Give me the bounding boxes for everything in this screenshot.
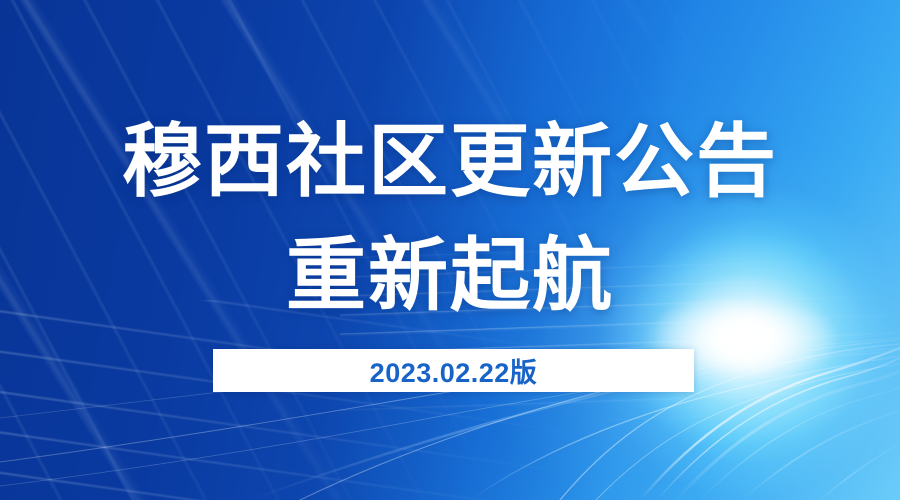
date-banner: 2023.02.22版 bbox=[213, 349, 694, 392]
banner-image: 穆西社区更新公告 重新起航 2023.02.22版 bbox=[0, 0, 900, 500]
banner-title-line-2: 重新起航 bbox=[0, 232, 900, 320]
banner-title-line-1: 穆西社区更新公告 bbox=[0, 118, 900, 206]
date-label: 2023.02.22版 bbox=[370, 351, 538, 390]
banner-content: 穆西社区更新公告 重新起航 2023.02.22版 bbox=[0, 0, 900, 500]
